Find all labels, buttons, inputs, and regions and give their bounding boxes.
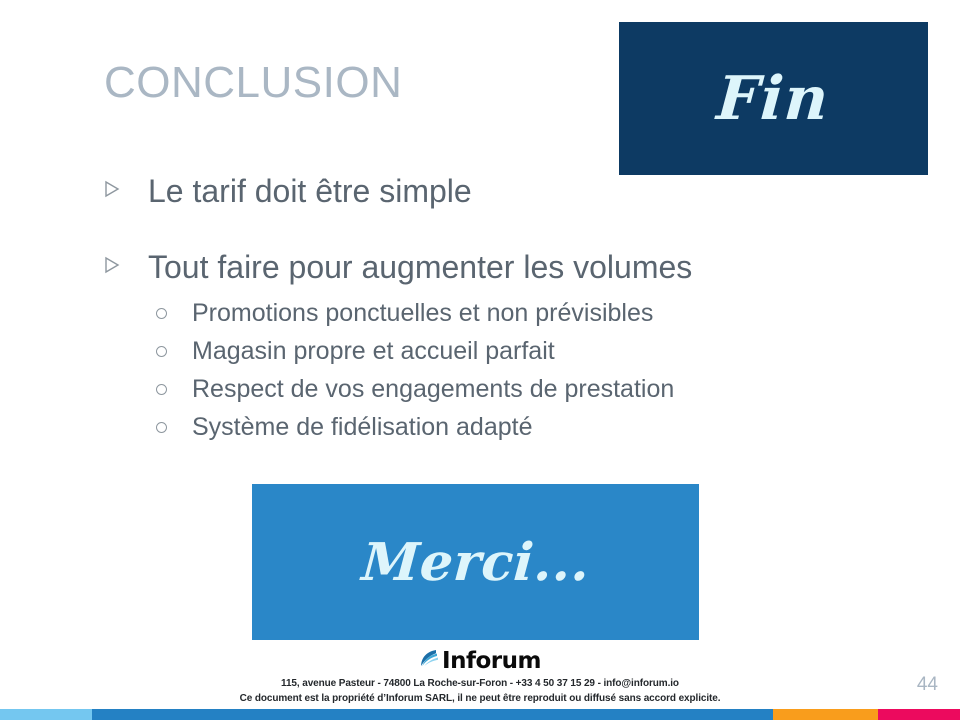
merci-label: Merci...: [359, 532, 591, 593]
slide-canvas: CONCLUSION Fin Le tarif doit être simple…: [0, 0, 960, 720]
color-bar-segment-orange: [773, 709, 878, 720]
brand-logo-text: Inforum: [442, 650, 541, 673]
triangle-bullet-icon: [104, 246, 148, 274]
footer-address: 115, avenue Pasteur - 74800 La Roche-sur…: [0, 677, 960, 692]
sub-bullet-list: Promotions ponctuelles et non prévisible…: [156, 296, 864, 445]
footer-legal-notice: Ce document est la propriété d’Inforum S…: [0, 692, 960, 707]
color-bar-segment-magenta: [878, 709, 960, 720]
sub-list-item-label: Respect de vos engagements de prestation: [192, 372, 674, 408]
bullet-list: Le tarif doit être simple Tout faire pou…: [104, 170, 864, 447]
brand-logo: Inforum: [0, 648, 960, 675]
sub-list-item-label: Magasin propre et accueil parfait: [192, 334, 555, 370]
bullet-spacer: [104, 220, 864, 246]
bottom-color-bar: [0, 709, 960, 720]
circle-bullet-icon: [156, 296, 192, 319]
list-item: Le tarif doit être simple: [104, 170, 864, 212]
list-item: Système de fidélisation adapté: [156, 410, 864, 446]
page-number: 44: [917, 674, 938, 696]
list-item-label: Tout faire pour augmenter les volumes: [148, 246, 692, 288]
circle-bullet-icon: [156, 372, 192, 395]
fin-graphic-box: Fin: [619, 22, 928, 175]
color-bar-segment-blue: [92, 709, 773, 720]
list-item: Tout faire pour augmenter les volumes: [104, 246, 864, 288]
triangle-bullet-icon: [104, 170, 148, 198]
footer: Inforum 115, avenue Pasteur - 74800 La R…: [0, 648, 960, 706]
page-title: CONCLUSION: [104, 58, 402, 108]
sub-list-item-label: Promotions ponctuelles et non prévisible…: [192, 296, 653, 332]
list-item-label: Le tarif doit être simple: [148, 170, 472, 212]
fin-label: Fin: [715, 64, 832, 134]
circle-bullet-icon: [156, 410, 192, 433]
merci-graphic-box: Merci...: [252, 484, 699, 640]
inforum-swoosh-icon: [419, 648, 441, 675]
list-item: Promotions ponctuelles et non prévisible…: [156, 296, 864, 332]
list-item: Magasin propre et accueil parfait: [156, 334, 864, 370]
sub-list-item-label: Système de fidélisation adapté: [192, 410, 533, 446]
circle-bullet-icon: [156, 334, 192, 357]
list-item: Respect de vos engagements de prestation: [156, 372, 864, 408]
color-bar-segment-light-blue: [0, 709, 92, 720]
